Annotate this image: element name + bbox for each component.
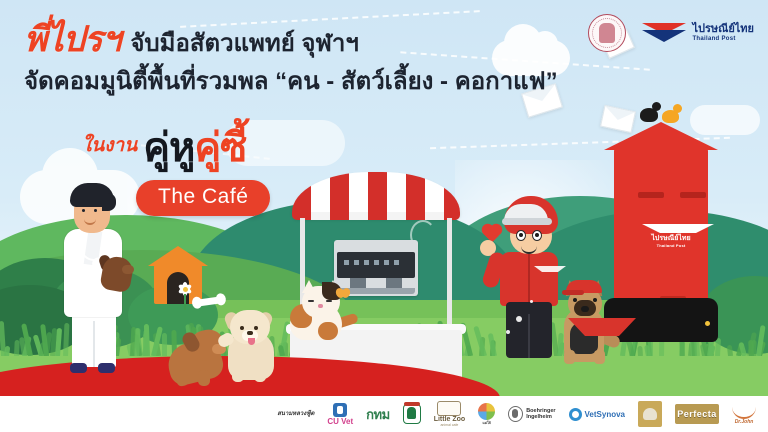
dr-john-mark-icon	[732, 403, 756, 419]
sponsor-label: BoehringerIngelheim	[526, 408, 555, 420]
sponsor-vet-assoc[interactable]	[403, 399, 421, 429]
thailand-post-wing-icon	[534, 266, 566, 272]
thailand-post-label-en: Thailand Post	[692, 36, 754, 42]
black-bird-icon	[640, 108, 658, 122]
little-zoo-mark-icon	[437, 401, 461, 416]
dog-bandana	[568, 318, 636, 336]
promo-banner: ไปรษณีย์ไทย Thailand Post	[0, 0, 768, 432]
butterfly-icon	[336, 288, 350, 300]
event-prefix: ในงาน	[82, 130, 137, 160]
headline-line-1: พี่ไปรฯ จับมือสัตวแพทย์ จุฬาฯ	[24, 22, 624, 59]
sponsor-cu-vet[interactable]: CU Vet	[327, 399, 353, 429]
sponsor-bgr[interactable]	[638, 401, 662, 427]
sponsor-label: แม่โจ้	[482, 420, 491, 426]
sponsor-bar: สนามหลวงฟู้ดCU VetกทมLittle Zooanimal ca…	[0, 396, 768, 432]
post-box-slot	[638, 192, 664, 198]
maejo-mark-icon	[478, 403, 495, 420]
thailand-post-label-th: ไปรษณีย์ไทย	[692, 24, 754, 36]
event-title-black: คู่หู	[143, 128, 194, 168]
headline-line-2: จัดคอมมูนิตี้พื้นที่รวมพล “คน - สัตว์เลี…	[24, 67, 624, 97]
sponsor-label: สนามหลวงฟู้ด	[277, 411, 314, 418]
grass-blade	[727, 345, 733, 356]
post-box-brand: ไปรษณีย์ไทย Thailand Post	[642, 224, 700, 248]
sponsor-sublabel: animal cafe	[440, 423, 458, 427]
sponsor-label: Little Zoo	[434, 416, 466, 423]
sponsor-kmm[interactable]: กทม	[366, 399, 390, 429]
thailand-post-logo: ไปรษณีย์ไทย Thailand Post	[642, 23, 754, 43]
top-logo-group: ไปรษณีย์ไทย Thailand Post	[588, 14, 754, 52]
veterinarian-character	[48, 175, 140, 380]
sponsor-label: Dr.John	[735, 419, 754, 425]
sponsor-label: กทม	[366, 404, 390, 425]
grass-blade	[756, 325, 766, 356]
grass-blade	[162, 333, 167, 356]
the-cafe-badge: The Café	[136, 180, 270, 216]
stall-post	[447, 218, 452, 332]
headline-block: พี่ไปรฯ จับมือสัตวแพทย์ จุฬาฯ จัดคอมมูนิ…	[24, 22, 624, 97]
thailand-post-mark-icon	[642, 23, 686, 43]
post-box-brand-th: ไปรษณีย์ไทย	[642, 235, 700, 243]
grass-blade	[143, 324, 149, 356]
stall-awning-lip	[292, 212, 460, 220]
sponsor-little-zoo[interactable]: Little Zooanimal cafe	[434, 399, 466, 429]
vetsynova-mark-icon	[569, 408, 582, 421]
vet-assoc-mark-icon	[403, 404, 421, 424]
sponsor-maejo[interactable]: แม่โจ้	[478, 399, 495, 429]
boehringer-mark-icon	[508, 406, 523, 422]
post-box-brand-en: Thailand Post	[642, 243, 700, 248]
sponsor-sanamluang[interactable]: สนามหลวงฟู้ด	[277, 399, 314, 429]
dog-house-roof	[148, 246, 208, 266]
post-box-slot	[680, 192, 706, 198]
sponsor-dr-john[interactable]: Dr.John	[732, 399, 756, 429]
post-box-body: ไปรษณีย์ไทย Thailand Post	[614, 148, 708, 302]
grass-blade	[0, 321, 6, 356]
coffee-stall	[292, 172, 460, 218]
sponsor-label: Perfecta	[677, 409, 717, 419]
cream-puppy	[222, 310, 292, 382]
thailand-post-mark-icon	[642, 224, 714, 233]
sponsor-boehringer-ingelheim[interactable]: BoehringerIngelheim	[508, 399, 555, 429]
flower-icon	[178, 282, 192, 296]
headline-script-lead: พี่ไปรฯ	[24, 22, 120, 57]
german-shepherd-dog	[552, 278, 616, 366]
post-box-roof	[604, 122, 718, 150]
sponsor-vetsynova[interactable]: VetSynova	[569, 399, 625, 429]
headline-line-2-text: จัดคอมมูนิตี้พื้นที่รวมพล “คน - สัตว์เลี…	[24, 67, 558, 97]
headline-line-1-rest: จับมือสัตวแพทย์ จุฬาฯ	[130, 29, 359, 59]
sponsor-label: VetSynova	[585, 410, 625, 419]
cu-mark-icon	[333, 403, 347, 417]
chulalongkorn-vet-seal-icon	[588, 14, 626, 52]
event-title-red: คู่ซี้	[194, 128, 246, 168]
sponsor-label: CU Vet	[327, 417, 353, 426]
sponsor-perfecta[interactable]: Perfecta	[675, 404, 719, 424]
event-title-row: ในงาน คู่หู คู่ซี้	[82, 128, 246, 168]
